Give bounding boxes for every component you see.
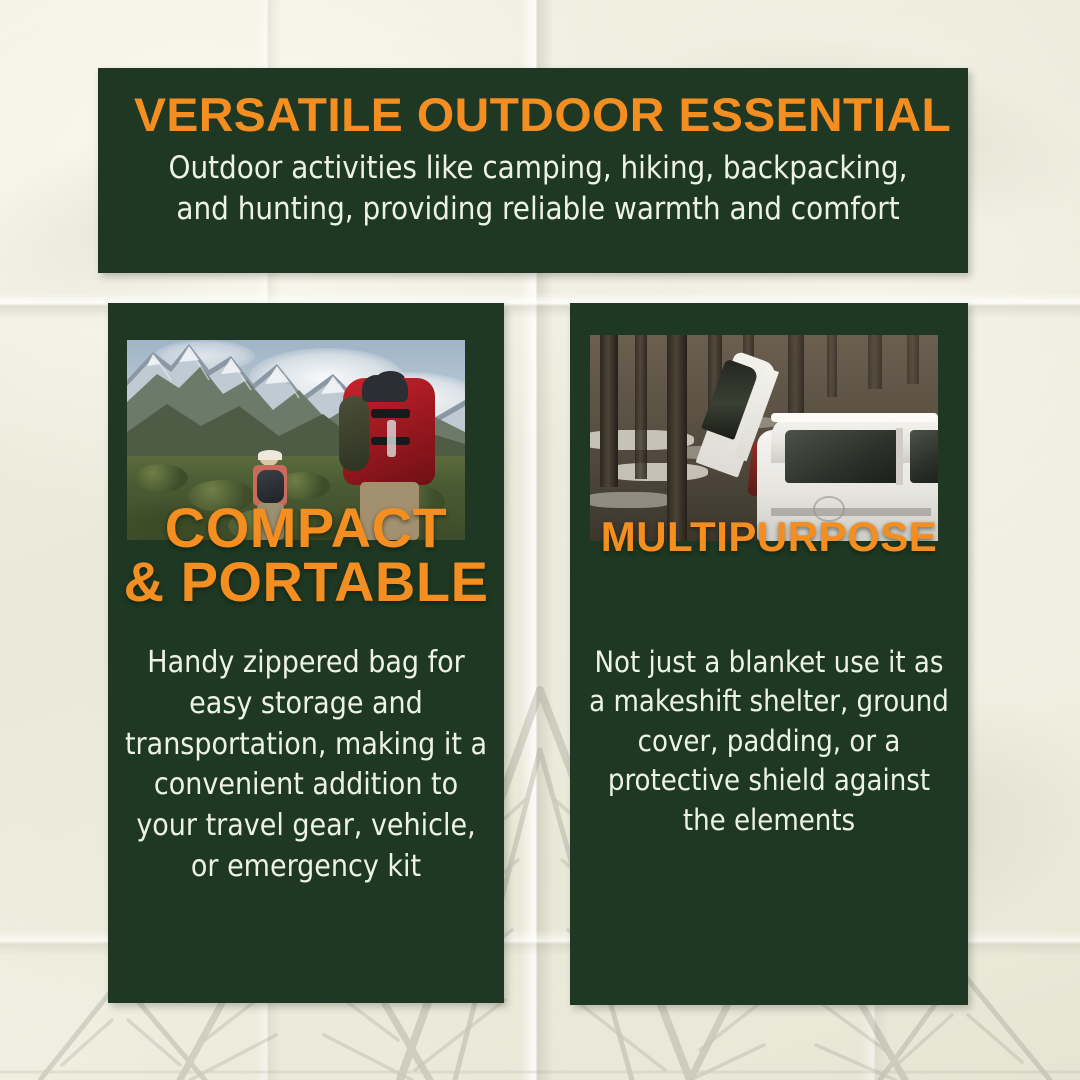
header-subtitle: Outdoor activities like camping, hiking,… <box>134 148 942 230</box>
feature-card-compact-portable: COMPACT & PORTABLE Handy zippered bag fo… <box>108 303 504 1003</box>
header-subtitle-line-2: and hunting, providing reliable warmth a… <box>134 189 942 230</box>
hikers-mountain-photo <box>127 340 465 540</box>
header-banner: VERSATILE OUTDOOR ESSENTIAL Outdoor acti… <box>98 68 968 273</box>
suv-forest-photo <box>590 335 938 541</box>
feature-card-multipurpose: MULTIPURPOSE Not just a blanket use it a… <box>570 303 968 1005</box>
hiker-small <box>242 452 303 540</box>
card-body-multipurpose: Not just a blanket use it as a makeshift… <box>570 643 968 840</box>
hiker-large <box>337 368 452 540</box>
header-title: VERSATILE OUTDOOR ESSENTIAL <box>134 90 958 139</box>
card-title-line-2: & PORTABLE <box>108 555 504 609</box>
header-subtitle-line-1: Outdoor activities like camping, hiking,… <box>134 148 942 189</box>
card-body-compact-portable: Handy zippered bag for easy storage and … <box>108 643 504 888</box>
